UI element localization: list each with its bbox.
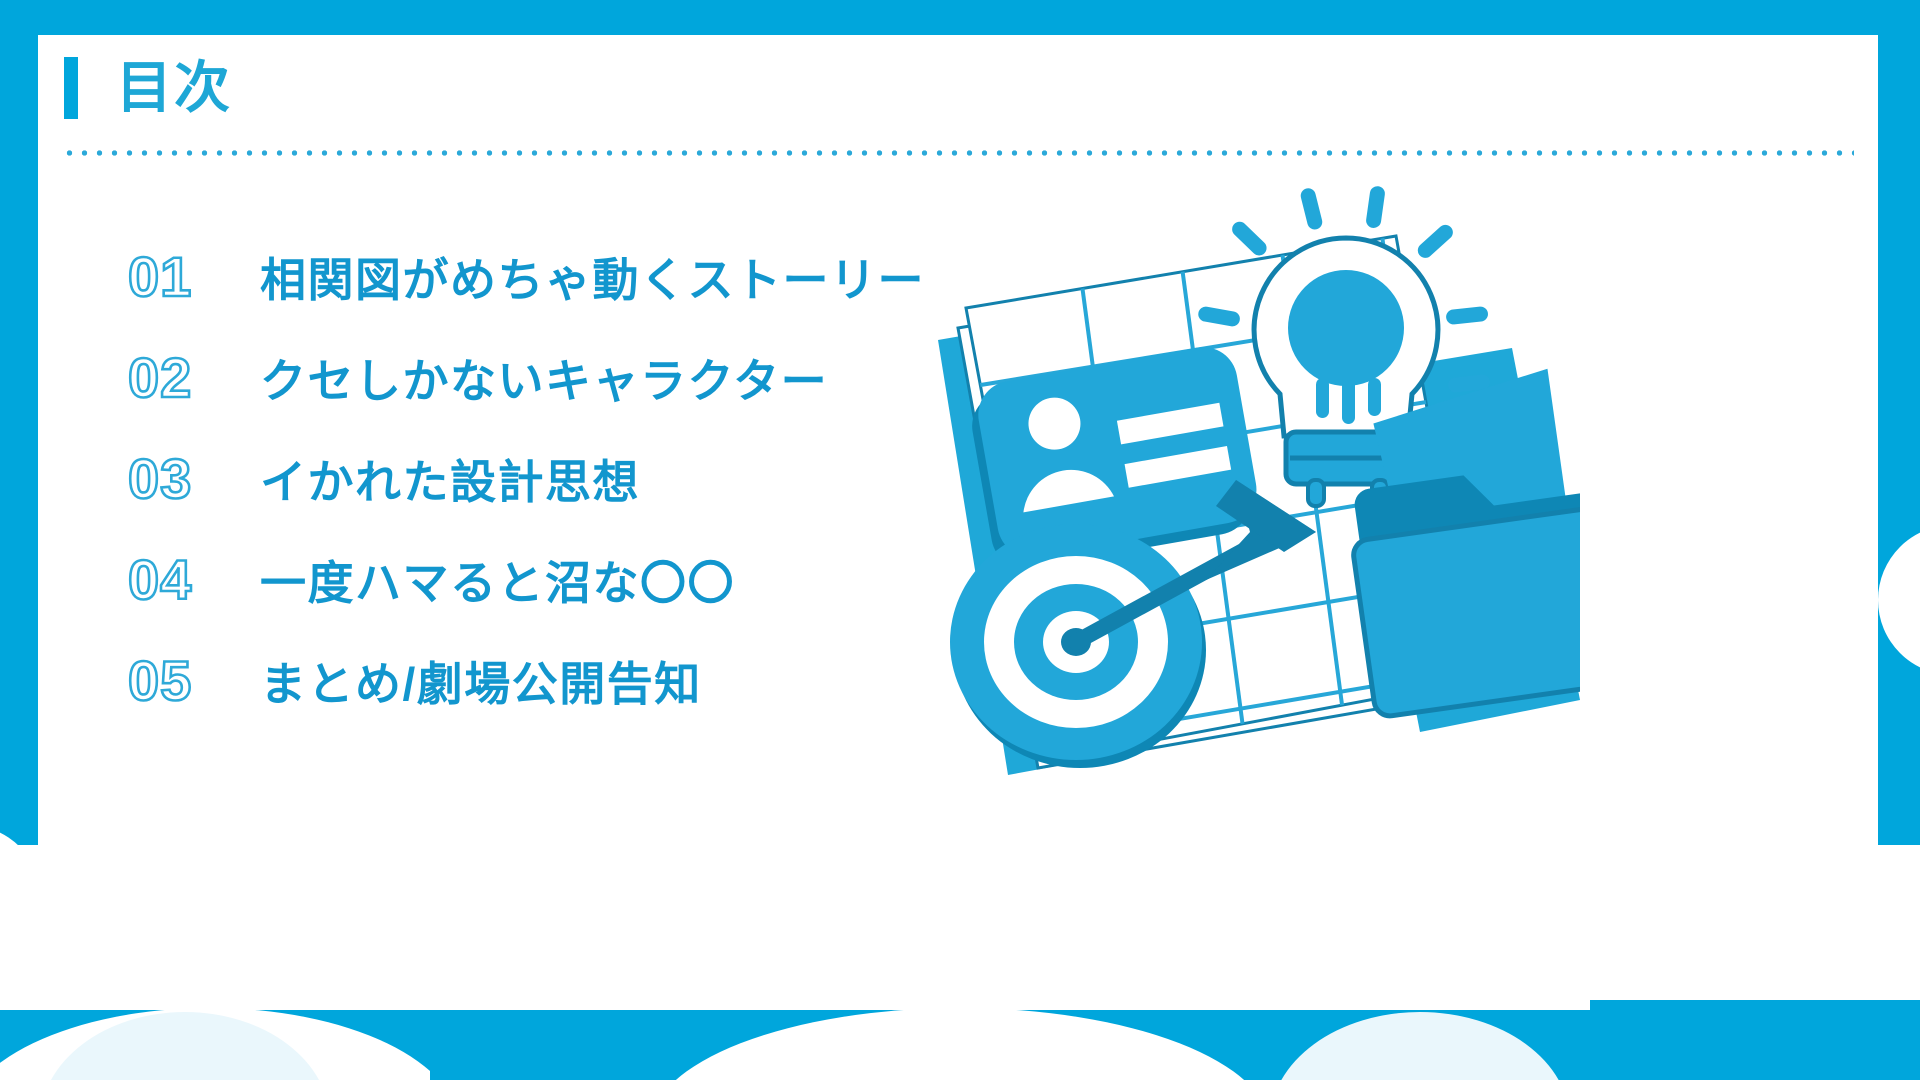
right-rail-notch [1878,525,1920,675]
bottom-blue-notch [430,1010,650,1080]
page-title: 目次 [116,60,232,116]
list-item-label: イかれた設計思想 [260,459,640,505]
list-item-number: 02 [128,350,260,406]
list-item-label: まとめ/劇場公開告知 [260,661,702,707]
list-item-number: 05 [128,653,260,709]
header-dotted-divider [62,150,1854,156]
list-item-label: 一度ハマると沼な〇〇 [260,560,735,606]
page-header: 目次 [64,57,232,119]
list-item-number: 04 [128,552,260,608]
list-item-number: 01 [128,249,260,305]
slide-root: 目次 01 相関図がめちゃ動くストーリー 02 クセしかないキャラクター 03 … [0,0,1920,1080]
list-item-label: 相関図がめちゃ動くストーリー [260,257,925,303]
title-accent-bar [64,57,78,119]
hero-illustration [880,180,1580,840]
list-item-number: 03 [128,451,260,507]
bottom-right-blue-tab [1590,1000,1920,1080]
list-item-label: クセしかないキャラクター [260,358,828,404]
